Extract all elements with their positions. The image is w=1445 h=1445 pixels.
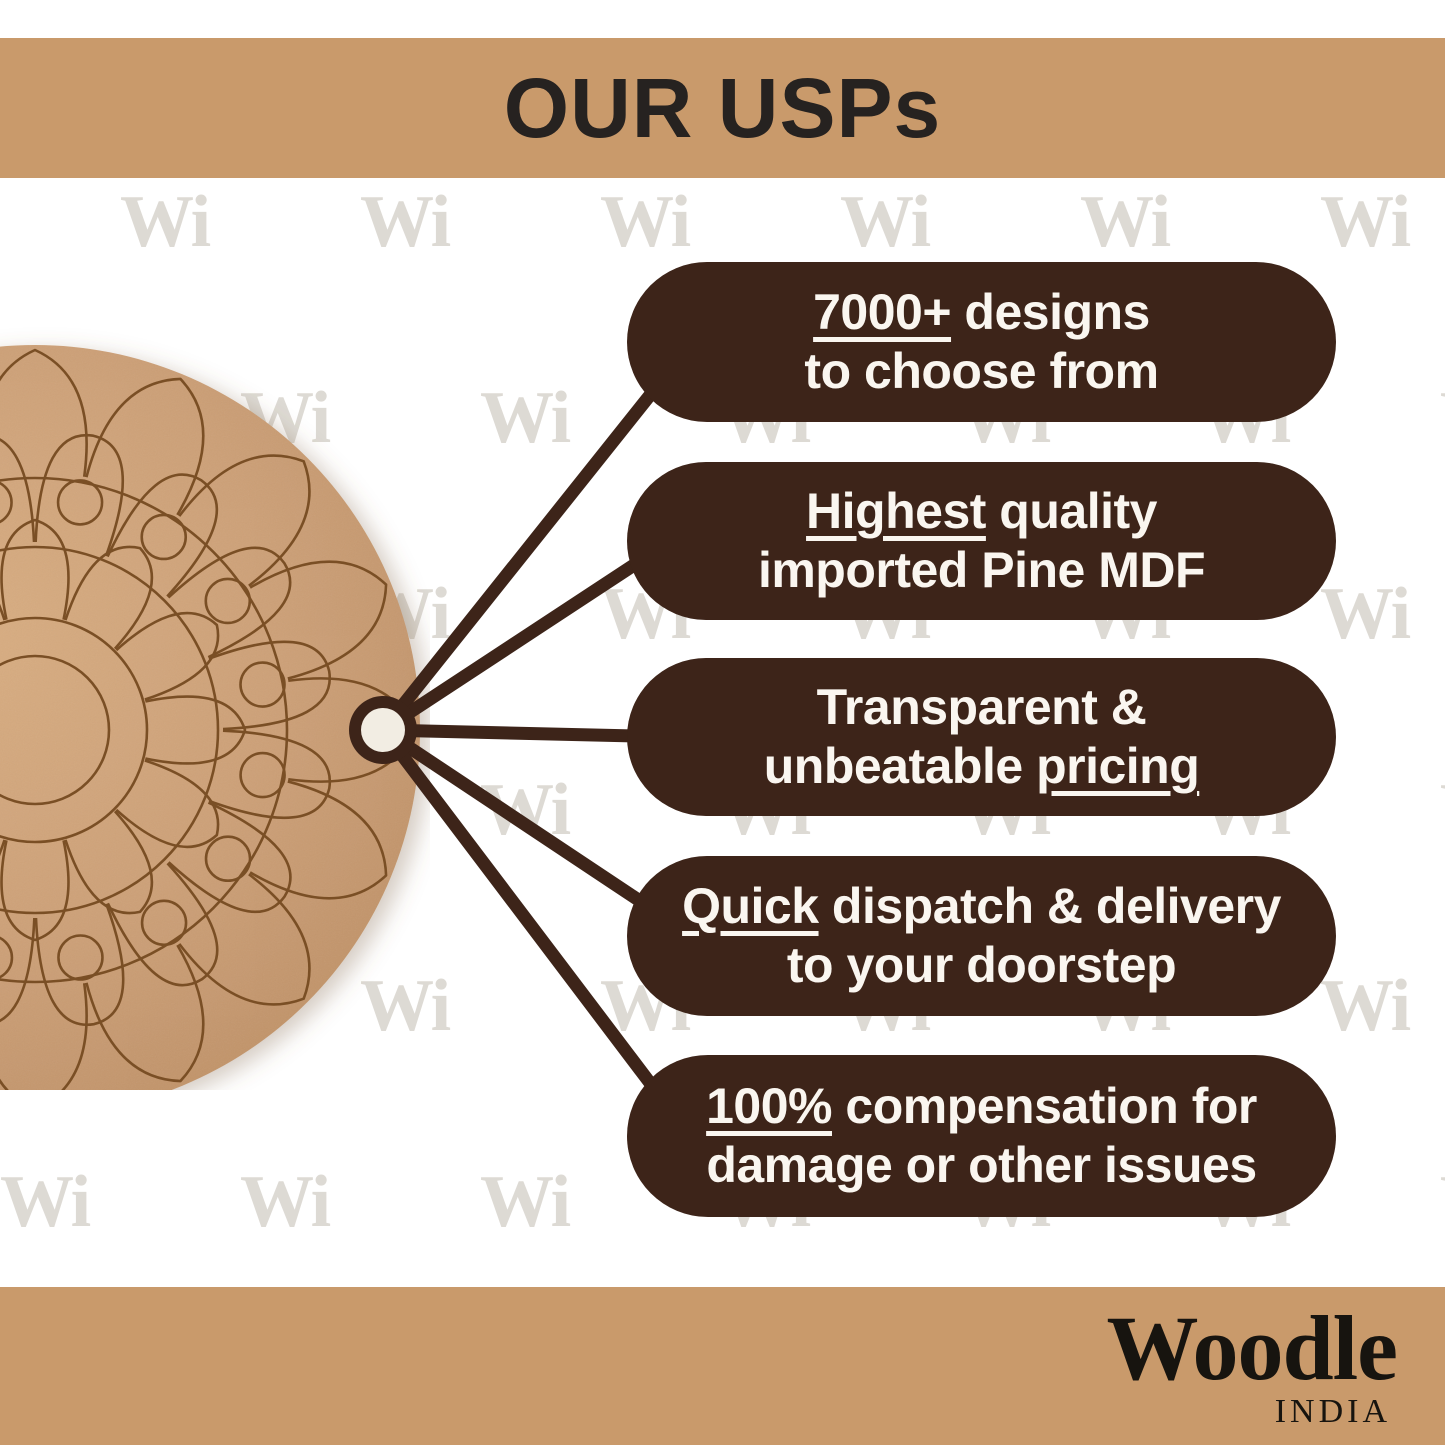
usp-line-2: unbeatable pricing — [764, 738, 1200, 794]
usp-text-material-quality: Highest quality imported Pine MDF — [758, 482, 1205, 600]
usp-line-1: Transparent & — [817, 679, 1147, 735]
usp-line-2: imported Pine MDF — [758, 542, 1205, 598]
usp-pill-dispatch-delivery[interactable]: Quick dispatch & delivery to your doorst… — [627, 856, 1336, 1016]
usp-highlight: Highest — [806, 483, 986, 539]
usp-line-1: Highest quality — [806, 483, 1157, 539]
usp-highlight: pricing — [1036, 738, 1199, 794]
usp-line-1: Quick dispatch & delivery — [682, 878, 1281, 934]
usp-list: 7000+ designs to choose from Highest qua… — [0, 0, 1445, 1445]
usp-line-1: 7000+ designs — [813, 284, 1150, 340]
usp-text-compensation: 100% compensation for damage or other is… — [706, 1077, 1257, 1195]
usp-pill-pricing[interactable]: Transparent & unbeatable pricing — [627, 658, 1336, 816]
usp-text-dispatch-delivery: Quick dispatch & delivery to your doorst… — [682, 877, 1281, 995]
usp-text-designs-count: 7000+ designs to choose from — [804, 283, 1158, 401]
usp-text-pricing: Transparent & unbeatable pricing — [764, 678, 1200, 796]
usp-line-2: to your doorstep — [787, 937, 1176, 993]
usp-pill-designs-count[interactable]: 7000+ designs to choose from — [627, 262, 1336, 422]
usp-highlight: 100% — [706, 1078, 832, 1134]
usp-pill-material-quality[interactable]: Highest quality imported Pine MDF — [627, 462, 1336, 620]
usp-highlight: 7000+ — [813, 284, 951, 340]
usp-line-1: 100% compensation for — [706, 1078, 1257, 1134]
usp-line-2: to choose from — [804, 343, 1158, 399]
usp-pill-compensation[interactable]: 100% compensation for damage or other is… — [627, 1055, 1336, 1217]
usp-highlight: Quick — [682, 878, 818, 934]
infographic-canvas: WiWiWiWiWiWiWiWiWiWiWiWiWiWiWiWiWiWiWiWi… — [0, 0, 1445, 1445]
usp-line-2: damage or other issues — [706, 1137, 1256, 1193]
